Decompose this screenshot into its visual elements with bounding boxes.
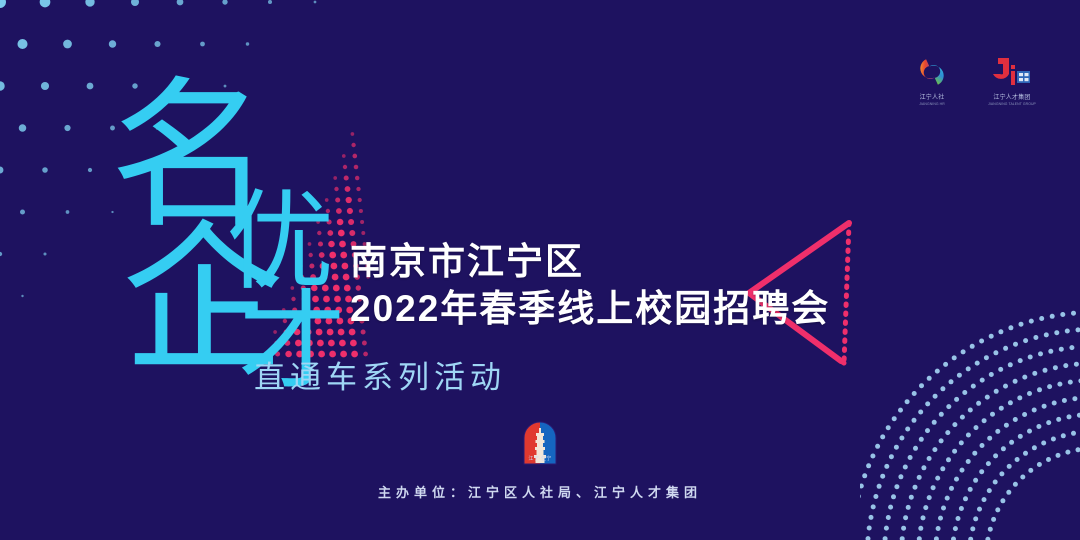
organizer-text: 主办单位：江宁区人社局、江宁人才集团: [0, 482, 1080, 501]
title-line-2: 2022年春季线上校园招聘会: [350, 285, 870, 332]
title-block: 南京市江宁区 2022年春季线上校园招聘会: [350, 238, 870, 333]
partner-name: 江宁人社: [906, 94, 958, 102]
swirl-logo-icon: [906, 52, 958, 92]
title-line-1: 南京市江宁区: [350, 238, 870, 285]
partner-logos: 江宁人社 JIANGNING HR 江宁人才集团 JIANGNING TALEN…: [906, 52, 1038, 106]
partner-logo-jiangning-talent-group: 江宁人才集团 JIANGNING TALENT GROUP: [986, 52, 1038, 106]
partner-subtitle: JIANGNING HR: [907, 102, 956, 106]
partner-logo-jiangning-hr: 江宁人社 JIANGNING HR: [906, 52, 958, 106]
center-logo-caption: 江宁·住宁: [508, 455, 572, 462]
subtitle-text: 直通车系列活动: [254, 352, 506, 397]
j-mark-logo-icon: [986, 52, 1038, 92]
hero-char-you: 优: [226, 188, 334, 296]
partner-name: 江宁人才集团: [986, 94, 1038, 102]
poster-canvas: 名 企 优 才 南京市江宁区 2022年春季线上校园招聘会 直通车系列活动: [0, 0, 1080, 540]
partner-subtitle: JIANGNING TALENT GROUP: [987, 102, 1036, 106]
